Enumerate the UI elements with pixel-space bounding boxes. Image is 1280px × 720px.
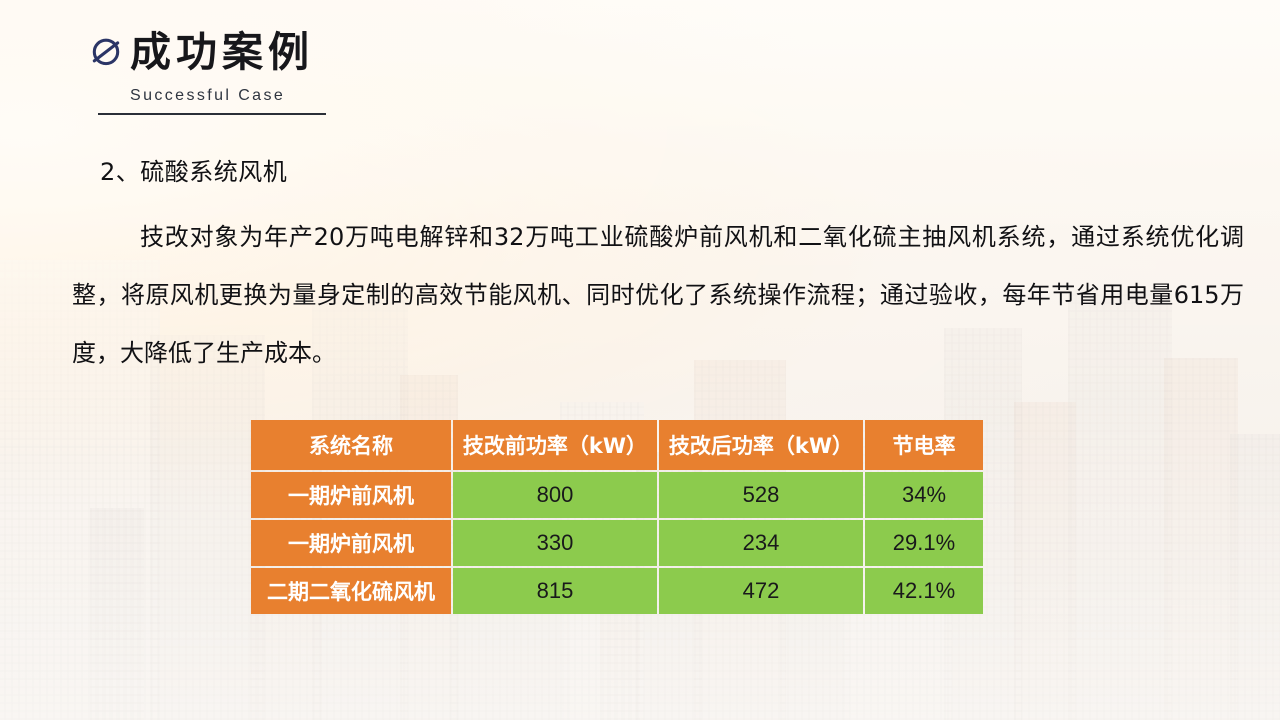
column-header-power-after: 技改后功率（kW） xyxy=(659,420,863,470)
section-heading: 2、硫酸系统风机 xyxy=(100,152,287,187)
cell-saving-rate: 34% xyxy=(865,472,983,518)
cell-power-after: 528 xyxy=(659,472,863,518)
cell-saving-rate: 42.1% xyxy=(865,568,983,614)
cell-system-name: 一期炉前风机 xyxy=(251,520,451,566)
table-row: 一期炉前风机 800 528 34% xyxy=(251,472,983,518)
page-title: 成功案例 xyxy=(130,32,314,73)
table-body: 一期炉前风机 800 528 34% 一期炉前风机 330 234 29.1% … xyxy=(251,472,983,614)
slide-title-block: 成功案例 Successful Case xyxy=(88,32,326,115)
table-row: 一期炉前风机 330 234 29.1% xyxy=(251,520,983,566)
table-header-row: 系统名称 技改前功率（kW） 技改后功率（kW） 节电率 xyxy=(251,420,983,470)
table-head: 系统名称 技改前功率（kW） 技改后功率（kW） 节电率 xyxy=(251,420,983,470)
cell-power-before: 815 xyxy=(453,568,657,614)
cell-power-after: 234 xyxy=(659,520,863,566)
null-set-icon xyxy=(88,33,124,69)
title-divider xyxy=(98,113,326,115)
column-header-saving-rate: 节电率 xyxy=(865,420,983,470)
cell-system-name: 二期二氧化硫风机 xyxy=(251,568,451,614)
cell-power-before: 330 xyxy=(453,520,657,566)
slide-canvas: 成功案例 Successful Case 2、硫酸系统风机 技改对象为年产20万… xyxy=(0,0,1280,720)
column-header-system-name: 系统名称 xyxy=(251,420,451,470)
title-row: 成功案例 xyxy=(88,32,326,73)
column-header-power-before: 技改前功率（kW） xyxy=(453,420,657,470)
table-row: 二期二氧化硫风机 815 472 42.1% xyxy=(251,568,983,614)
cell-saving-rate: 29.1% xyxy=(865,520,983,566)
cell-system-name: 一期炉前风机 xyxy=(251,472,451,518)
cell-power-before: 800 xyxy=(453,472,657,518)
page-subtitle: Successful Case xyxy=(130,87,326,105)
body-paragraph: 技改对象为年产20万吨电解锌和32万吨工业硫酸炉前风机和二氧化硫主抽风机系统，通… xyxy=(72,208,1244,382)
cell-power-after: 472 xyxy=(659,568,863,614)
comparison-table: 系统名称 技改前功率（kW） 技改后功率（kW） 节电率 一期炉前风机 800 … xyxy=(249,418,985,616)
